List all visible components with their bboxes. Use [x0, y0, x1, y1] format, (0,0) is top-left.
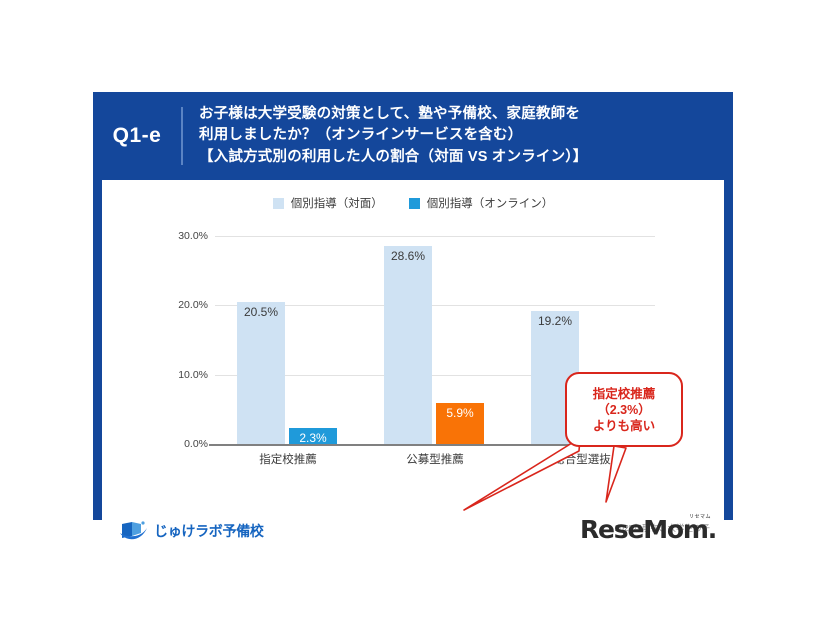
bar-online-koubo[interactable]: 5.9% — [436, 403, 484, 444]
callout-line-3: よりも高い — [593, 418, 655, 434]
bar-value-online-koubo: 5.9% — [436, 406, 484, 420]
bar-value-offline-sougou: 19.2% — [531, 314, 579, 328]
legend-label-online: 個別指導（オンライン） — [427, 195, 554, 211]
question-line-2: 利用しましたか？（オンラインサービスを含む） — [199, 125, 587, 146]
chart-legend: 個別指導（対面） 個別指導（オンライン） — [102, 195, 724, 211]
question-text: お子様は大学受験の対策として、塾や予備校、家庭教師を 利用しましたか？（オンライ… — [183, 104, 587, 167]
slide-header: Q1-e お子様は大学受験の対策として、塾や予備校、家庭教師を 利用しましたか？… — [93, 92, 733, 180]
bar-value-online-shiteikou: 2.3% — [289, 431, 337, 445]
bar-online-shiteikou[interactable]: 2.3% — [289, 428, 337, 444]
legend-item-offline: 個別指導（対面） — [273, 195, 383, 211]
question-number-badge: Q1-e — [93, 124, 181, 148]
category-label-koubo: 公募型推薦 — [362, 451, 508, 467]
brand-logo-text: じゅけラボ予備校 — [154, 521, 264, 541]
bar-value-offline-koubo: 28.6% — [384, 249, 432, 263]
bar-value-offline-shiteikou: 20.5% — [237, 305, 285, 319]
bar-group-shiteikou: 20.5% 2.3% 指定校推薦 — [215, 236, 361, 444]
legend-swatch-offline — [273, 198, 284, 209]
bar-offline-shiteikou[interactable]: 20.5% — [237, 302, 285, 444]
legend-item-online: 個別指導（オンライン） — [409, 195, 554, 211]
legend-label-offline: 個別指導（対面） — [291, 195, 383, 211]
legend-swatch-online — [409, 198, 420, 209]
question-line-1: お子様は大学受験の対策として、塾や予備校、家庭教師を — [199, 104, 587, 125]
ytick-label-30: 30.0% — [178, 230, 208, 242]
callout-line-1: 指定校推薦 — [593, 386, 656, 402]
category-label-shiteikou: 指定校推薦 — [215, 451, 361, 467]
resemom-watermark: ReseMom. — [580, 515, 716, 544]
slide-footer: じゅけラボ予備校 2025年現在、大学生の子 リセマム ReseMom. — [102, 511, 724, 551]
bar-offline-koubo[interactable]: 28.6% — [384, 246, 432, 444]
callout-box: 指定校推薦 （2.3%） よりも高い — [565, 372, 683, 447]
ytick-label-0: 0.0% — [184, 438, 208, 450]
question-line-3: 【入試方式別の利用した人の割合（対面 VS オンライン）】 — [199, 147, 587, 168]
ytick-label-20: 20.0% — [178, 299, 208, 311]
callout-line-2: （2.3%） — [597, 402, 651, 418]
book-swoosh-icon — [119, 519, 149, 543]
ytick-label-10: 10.0% — [178, 369, 208, 381]
bar-group-koubo: 28.6% 5.9% 公募型推薦 — [362, 236, 508, 444]
slide-card: Q1-e お子様は大学受験の対策として、塾や予備校、家庭教師を 利用しましたか？… — [93, 92, 733, 520]
brand-logo: じゅけラボ予備校 — [119, 519, 264, 543]
category-label-sougou: 総合型選抜 — [509, 451, 655, 467]
chart-panel: 個別指導（対面） 個別指導（オンライン） 30.0% 20.0% 10.0% 0… — [102, 180, 724, 511]
